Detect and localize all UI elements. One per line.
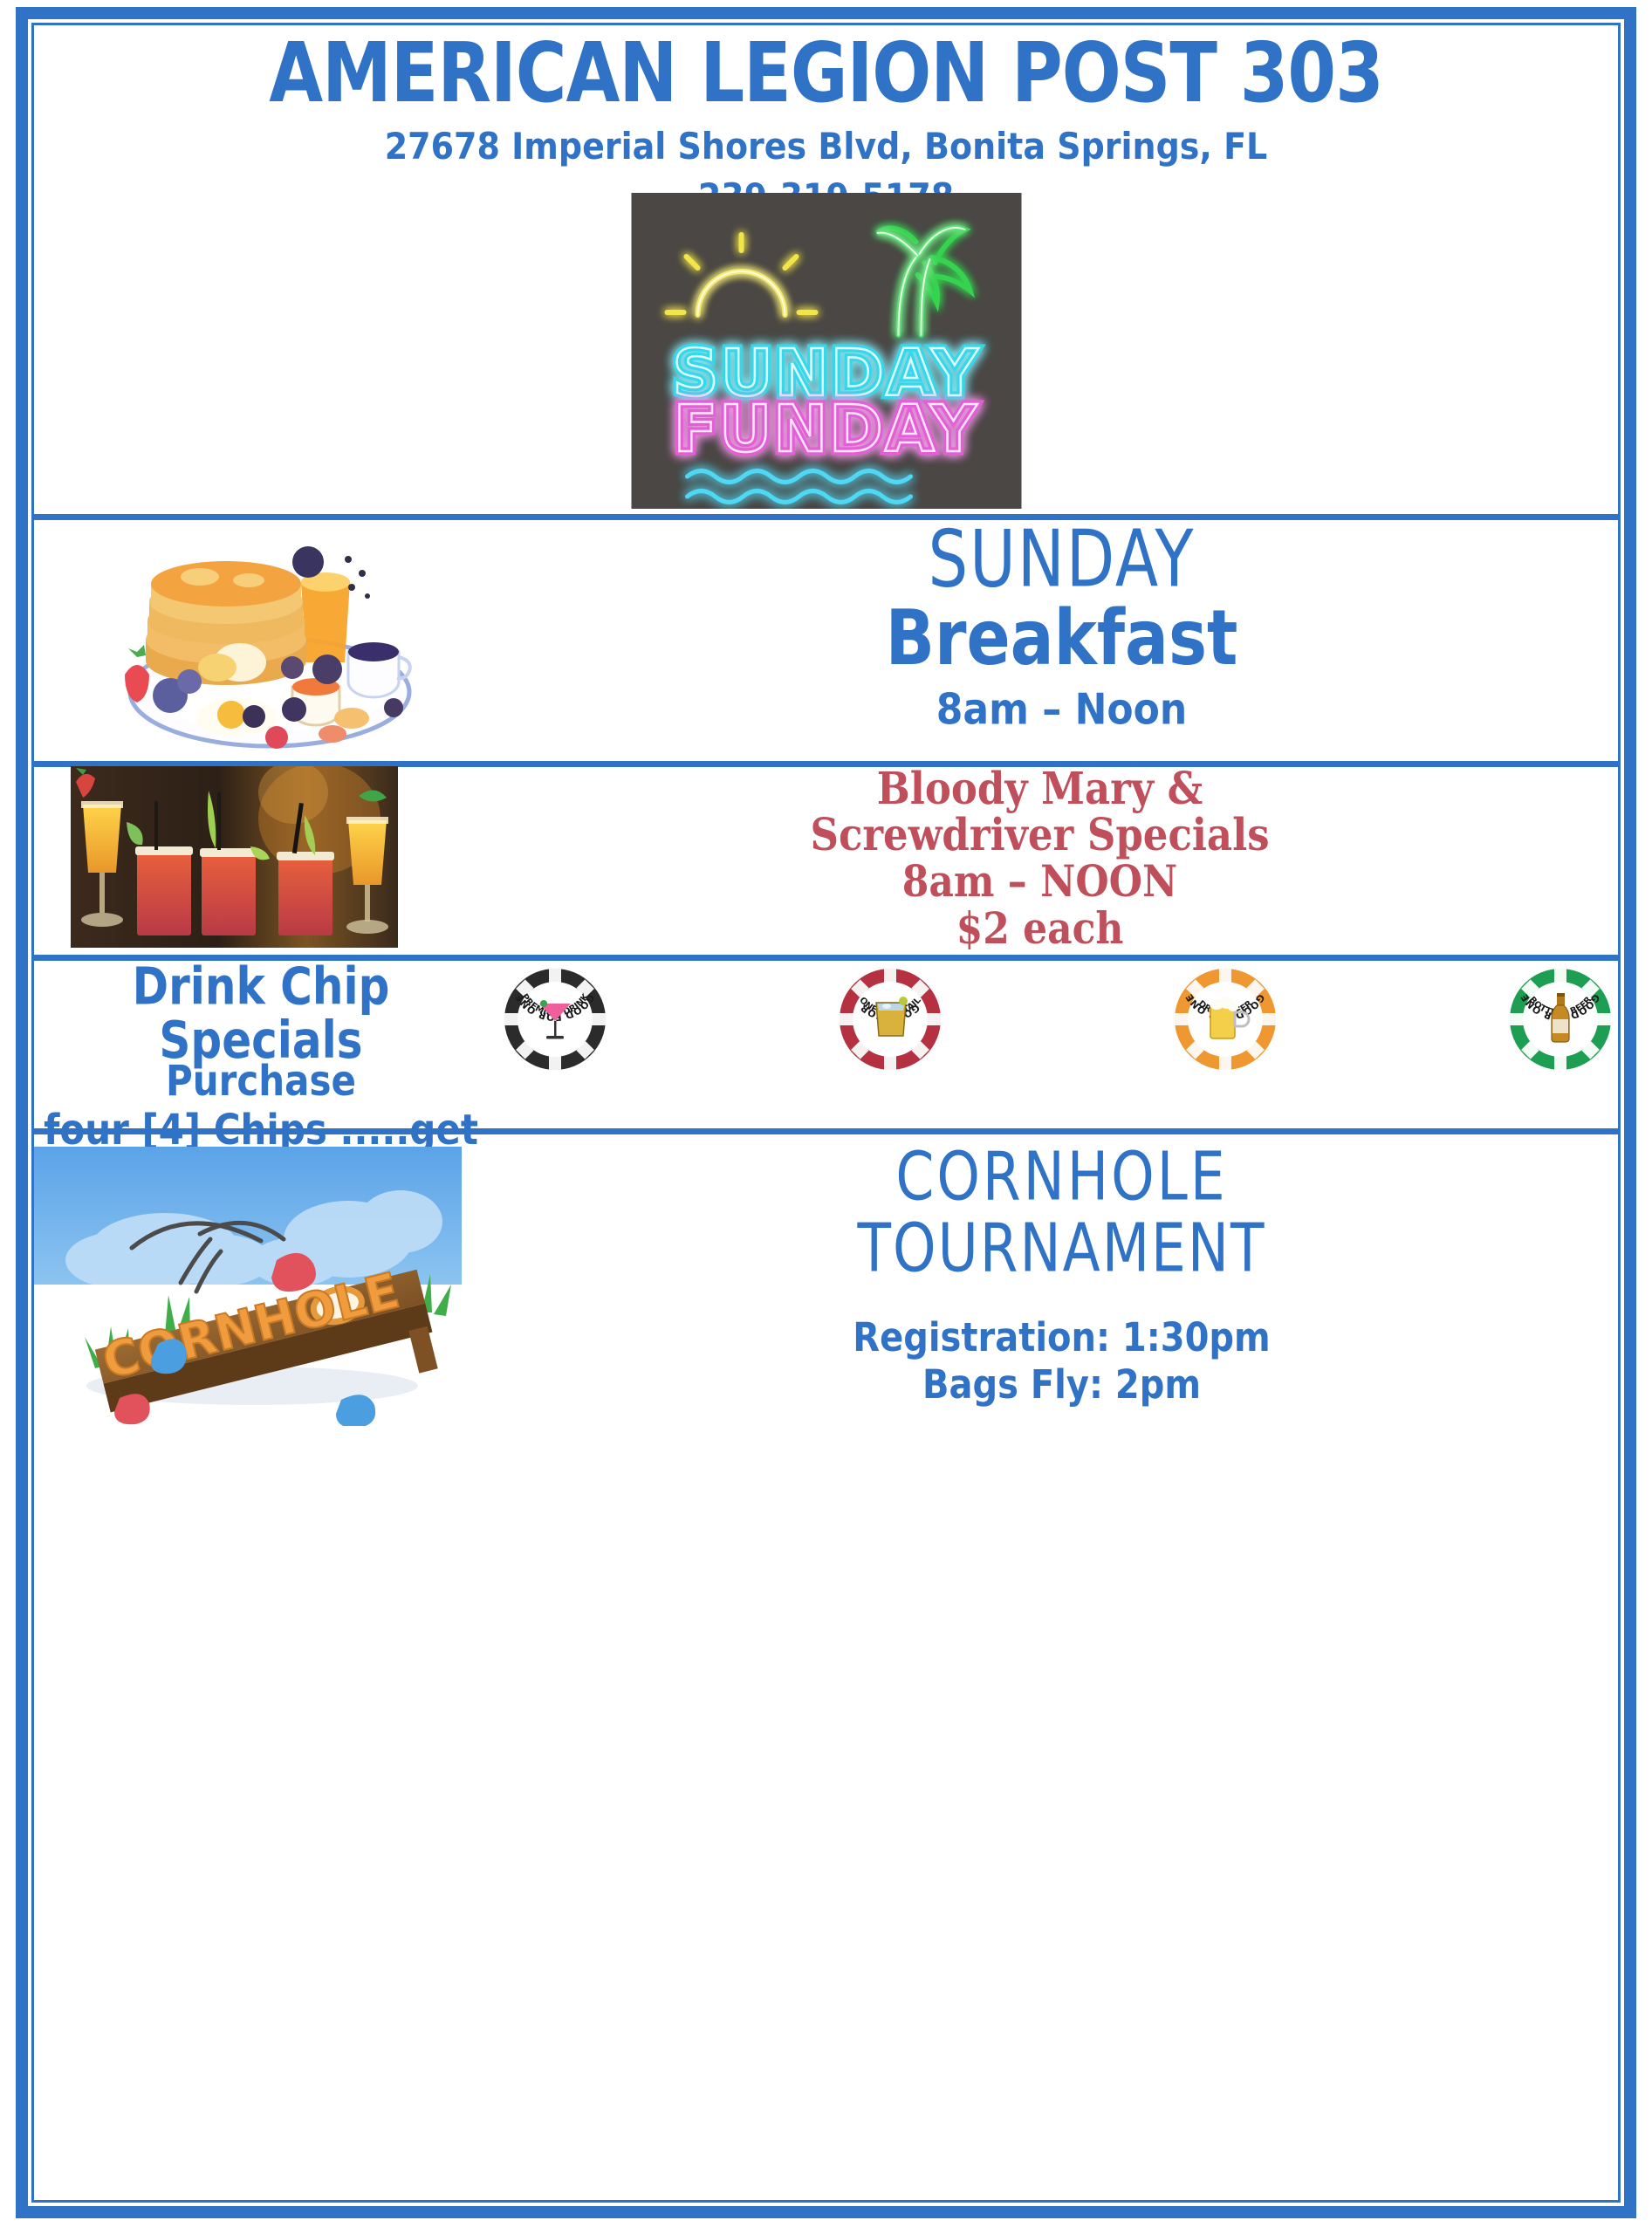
svg-text:FUNDAY: FUNDAY bbox=[673, 392, 978, 467]
cocktail-tumbler-icon bbox=[876, 997, 908, 1036]
drink-chip-line-2: Purchase bbox=[34, 1059, 488, 1103]
divider-cornhole bbox=[34, 1128, 1618, 1134]
post-address: 27678 Imperial Shores Blvd, Bonita Sprin… bbox=[34, 127, 1618, 168]
cocktail-line-1: Bloody Mary & bbox=[462, 763, 1618, 814]
bottled-beer-chip: GOOD FOR ONE BOTTLED BEER bbox=[1506, 965, 1614, 1073]
section-sunday-breakfast: SUNDAY Breakfast 8am – Noon bbox=[34, 519, 1618, 760]
draft-beer-chip: GOOD FOR ONE DRAFT BEER bbox=[1171, 965, 1279, 1073]
sunday-funday-neon-sign: SUNDAY SUNDAY FUNDAY FUNDAY bbox=[631, 193, 1021, 509]
breakfast-copy: SUNDAY Breakfast 8am – Noon bbox=[505, 519, 1618, 728]
cornhole-bags-fly: Bags Fly: 2pm bbox=[505, 1364, 1618, 1406]
page-title: AMERICAN LEGION POST 303 bbox=[34, 32, 1618, 114]
breakfast-line-1: SUNDAY bbox=[505, 519, 1618, 600]
flyer-page: AMERICAN LEGION POST 303 27678 Imperial … bbox=[0, 0, 1652, 2234]
one-cocktail-chip: GOOD FOR ONE COCKTAIL bbox=[836, 965, 944, 1073]
cocktail-copy: Bloody Mary & Screwdriver Specials 8am –… bbox=[462, 763, 1618, 949]
drink-chip-images: GOOD FOR ONE PREMIUM DRINK bbox=[501, 965, 1614, 1073]
flyer-content: AMERICAN LEGION POST 303 27678 Imperial … bbox=[34, 25, 1618, 2200]
breakfast-line-2: Breakfast bbox=[505, 600, 1618, 678]
cocktail-line-2: Screwdriver Specials bbox=[462, 809, 1618, 860]
section-cornhole-tournament: CORNHOLE bbox=[34, 1134, 1618, 2200]
cornhole-board-illustration: CORNHOLE bbox=[34, 1138, 488, 1426]
cornhole-registration: Registration: 1:30pm bbox=[505, 1317, 1618, 1359]
breakfast-plate-illustration bbox=[86, 521, 453, 758]
cocktail-price: $2 each bbox=[462, 904, 1618, 955]
premium-drink-chip: GOOD FOR ONE PREMIUM DRINK bbox=[501, 965, 609, 1073]
drink-chip-heading: Drink Chip Specials bbox=[34, 960, 488, 1067]
masthead: AMERICAN LEGION POST 303 27678 Imperial … bbox=[34, 25, 1618, 174]
breakfast-hours: 8am – Noon bbox=[505, 688, 1618, 733]
cornhole-copy: CORNHOLE TOURNAMENT Registration: 1:30pm… bbox=[505, 1143, 1618, 1401]
cornhole-line-2: TOURNAMENT bbox=[505, 1215, 1618, 1283]
section-drink-chip-specials: Drink Chip Specials Purchase four [4] Ch… bbox=[34, 960, 1618, 1126]
bloody-mary-mimosa-photo bbox=[71, 766, 398, 948]
cornhole-line-1: CORNHOLE bbox=[505, 1143, 1618, 1211]
section-drink-specials: Bloody Mary & Screwdriver Specials 8am –… bbox=[34, 766, 1618, 954]
cocktail-hours: 8am – NOON bbox=[462, 857, 1618, 908]
